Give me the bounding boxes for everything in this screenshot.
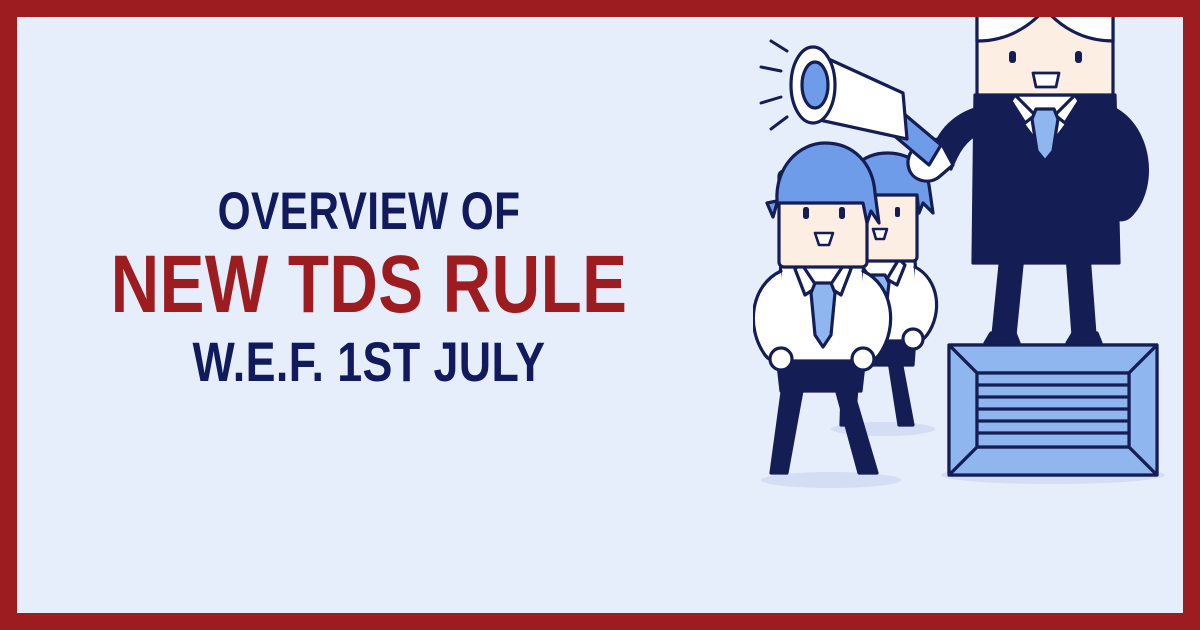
back-mouth [873, 229, 887, 239]
speaker-eye-right [1075, 51, 1082, 63]
megaphone-sound-line-3 [761, 97, 781, 103]
illustration-svg [753, 17, 1173, 613]
crate [949, 345, 1157, 475]
figure-speaker [908, 17, 1147, 343]
back-eye-right [895, 207, 900, 217]
megaphone-sound-line-2 [761, 67, 781, 71]
banner-canvas: OVERVIEW OF NEW TDS RULE W.E.F. 1ST JULY [17, 17, 1183, 613]
megaphone-sound-line-4 [771, 117, 787, 129]
crate-bevel-bl [949, 447, 1157, 475]
front-eye-left [803, 207, 809, 219]
speaker-mouth [1033, 73, 1059, 87]
crate-bevel-tl [949, 345, 1157, 373]
megaphone [761, 41, 941, 165]
banner-frame: OVERVIEW OF NEW TDS RULE W.E.F. 1ST JULY [0, 0, 1200, 630]
megaphone-bell-inner [802, 62, 828, 108]
front-hand-left [770, 348, 792, 370]
headline-line-effective-date: W.E.F. 1ST JULY [105, 334, 633, 390]
front-leg-left [771, 385, 803, 473]
front-hand-right [852, 348, 874, 370]
illustration-group [753, 17, 1173, 613]
front-eye-right [839, 207, 845, 219]
back-leg-right [889, 361, 913, 425]
speaker-arm-right [1111, 109, 1147, 220]
speaker-leg-right [1067, 255, 1095, 335]
headline-line-overview: OVERVIEW OF [105, 185, 633, 238]
speaker-eye-left [1009, 51, 1016, 63]
front-mouth [815, 233, 833, 245]
speaker-leg-left [993, 255, 1023, 335]
back-hand-right [903, 329, 923, 349]
megaphone-sound-line-1 [771, 41, 787, 51]
headline-block: OVERVIEW OF NEW TDS RULE W.E.F. 1ST JULY [39, 185, 699, 390]
headline-line-main: NEW TDS RULE [98, 244, 639, 326]
